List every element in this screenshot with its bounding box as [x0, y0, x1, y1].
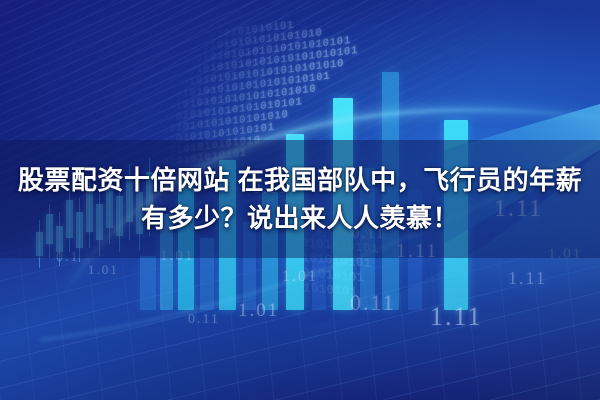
floating-number-10: 1.11 [430, 302, 483, 332]
headline-line-1: 股票配资十倍网站 在我国部队中，飞行员的年薪 [18, 163, 582, 197]
banner-image: 1010101010101010101 01010101010101010101… [0, 0, 600, 400]
floating-number-13: 0.11 [188, 312, 220, 328]
floating-number-5: 1.01 [88, 262, 119, 278]
floating-number-9: 0.11 [350, 290, 396, 316]
floating-number-12: 1.11 [508, 268, 547, 289]
floating-number-4: 1.01 [282, 268, 318, 286]
headline-block: 股票配资十倍网站 在我国部队中，飞行员的年薪 有多少？说出来人人羡慕！ [0, 140, 600, 258]
floating-number-11: 1.01 [238, 300, 279, 322]
headline-line-2: 有多少？说出来人人羡慕！ [141, 201, 459, 235]
